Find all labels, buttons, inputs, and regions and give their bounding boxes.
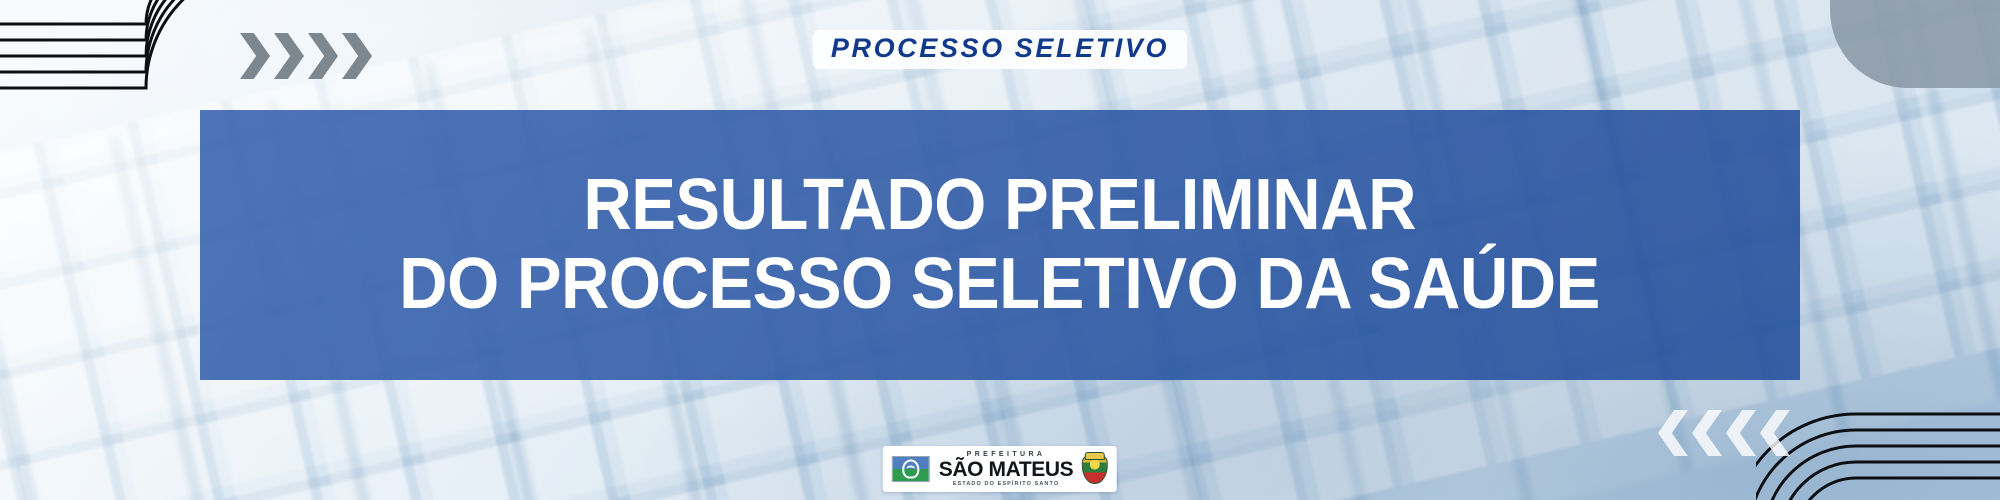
prefeitura-logo: PREFEITURA SÃO MATEUS ESTADO DO ESPÍRITO… bbox=[883, 446, 1117, 493]
chevron-right-icon bbox=[240, 33, 270, 79]
chevron-right-icon bbox=[342, 33, 372, 79]
chevron-left-icon bbox=[1726, 410, 1756, 456]
eyebrow-pill: PROCESSO SELETIVO bbox=[813, 30, 1187, 69]
chevron-left-icon bbox=[1658, 410, 1688, 456]
chevron-left-icon bbox=[1760, 410, 1790, 456]
title-panel: RESULTADO PRELIMINAR DO PROCESSO SELETIV… bbox=[200, 110, 1800, 380]
logo-subtitle: ESTADO DO ESPÍRITO SANTO bbox=[953, 482, 1059, 488]
flag-emblem-shape bbox=[902, 459, 919, 478]
decoration-lines-bottom-right bbox=[1756, 373, 2000, 500]
logo-city-name: SÃO MATEUS bbox=[939, 459, 1073, 480]
decoration-chevrons-top-left bbox=[240, 33, 372, 79]
eyebrow-label: PROCESSO SELETIVO bbox=[831, 35, 1169, 62]
banner-root: PROCESSO SELETIVO RESULTADO PRELIMINAR D… bbox=[0, 0, 2000, 500]
sao-mateus-flag-icon bbox=[892, 456, 930, 482]
sao-mateus-coat-of-arms-icon bbox=[1082, 454, 1108, 484]
chevron-right-icon bbox=[274, 33, 304, 79]
logo-wordmark: PREFEITURA SÃO MATEUS ESTADO DO ESPÍRITO… bbox=[939, 451, 1073, 488]
decoration-lines-top-left bbox=[0, 0, 226, 119]
chevron-right-icon bbox=[308, 33, 338, 79]
page-title-line-1: RESULTADO PRELIMINAR bbox=[584, 168, 1417, 243]
logo-prefix: PREFEITURA bbox=[967, 451, 1046, 458]
page-title-line-2: DO PROCESSO SELETIVO DA SAÚDE bbox=[400, 247, 1601, 322]
chevron-left-icon bbox=[1692, 410, 1722, 456]
decoration-chevrons-bottom-right bbox=[1658, 410, 1790, 456]
